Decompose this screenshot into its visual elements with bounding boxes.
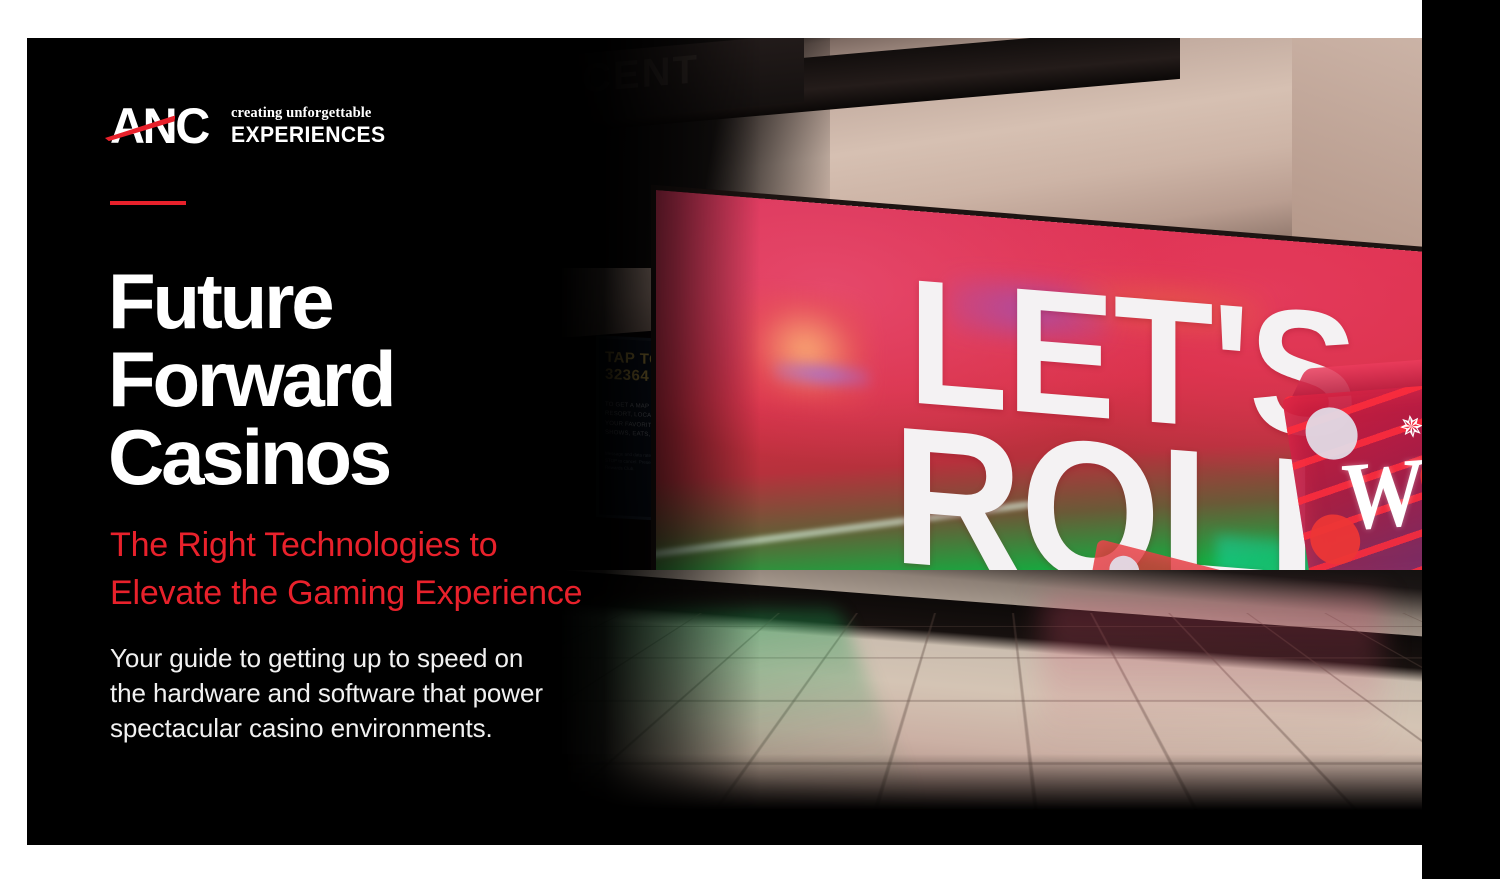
page-title-line3: Casinos [108,418,668,496]
anc-tagline: creating unforgettable EXPERIENCES [231,106,392,146]
black-bleed-right [1422,0,1500,879]
text-column: ANC creating unforgettable EXPERIENCES F… [0,0,700,879]
page-subtitle-line1: The Right Technologies to [110,521,720,569]
page-subtitle-line2: Elevate the Gaming Experience [110,569,720,617]
page-description-line2: the hardware and software that power [110,676,670,711]
anc-tagline-line1: creating unforgettable [231,106,387,121]
cover-page: CENT TAP TO 32364 TO GET A MAP OF THE RE… [0,0,1500,879]
w-logo: W [1332,441,1422,545]
starburst-icon: ✵ [1397,414,1422,442]
page-description: Your guide to getting up to speed on the… [110,641,670,746]
anc-logo[interactable]: ANC creating unforgettable EXPERIENCES [110,100,392,152]
page-subtitle: The Right Technologies to Elevate the Ga… [110,521,720,617]
red-divider [110,201,186,205]
floor-reflection-pink [1042,596,1382,746]
anc-logomark: ANC [110,100,215,152]
page-title-line2: Forward [108,340,668,418]
page-title-line1: Future [108,262,668,340]
anc-tagline-line2: EXPERIENCES [231,124,385,146]
page-description-line1: Your guide to getting up to speed on [110,641,670,676]
page-description-line3: spectacular casino environments. [110,711,670,746]
led-bokeh-a [742,289,870,411]
page-title: Future Forward Casinos [108,262,668,496]
